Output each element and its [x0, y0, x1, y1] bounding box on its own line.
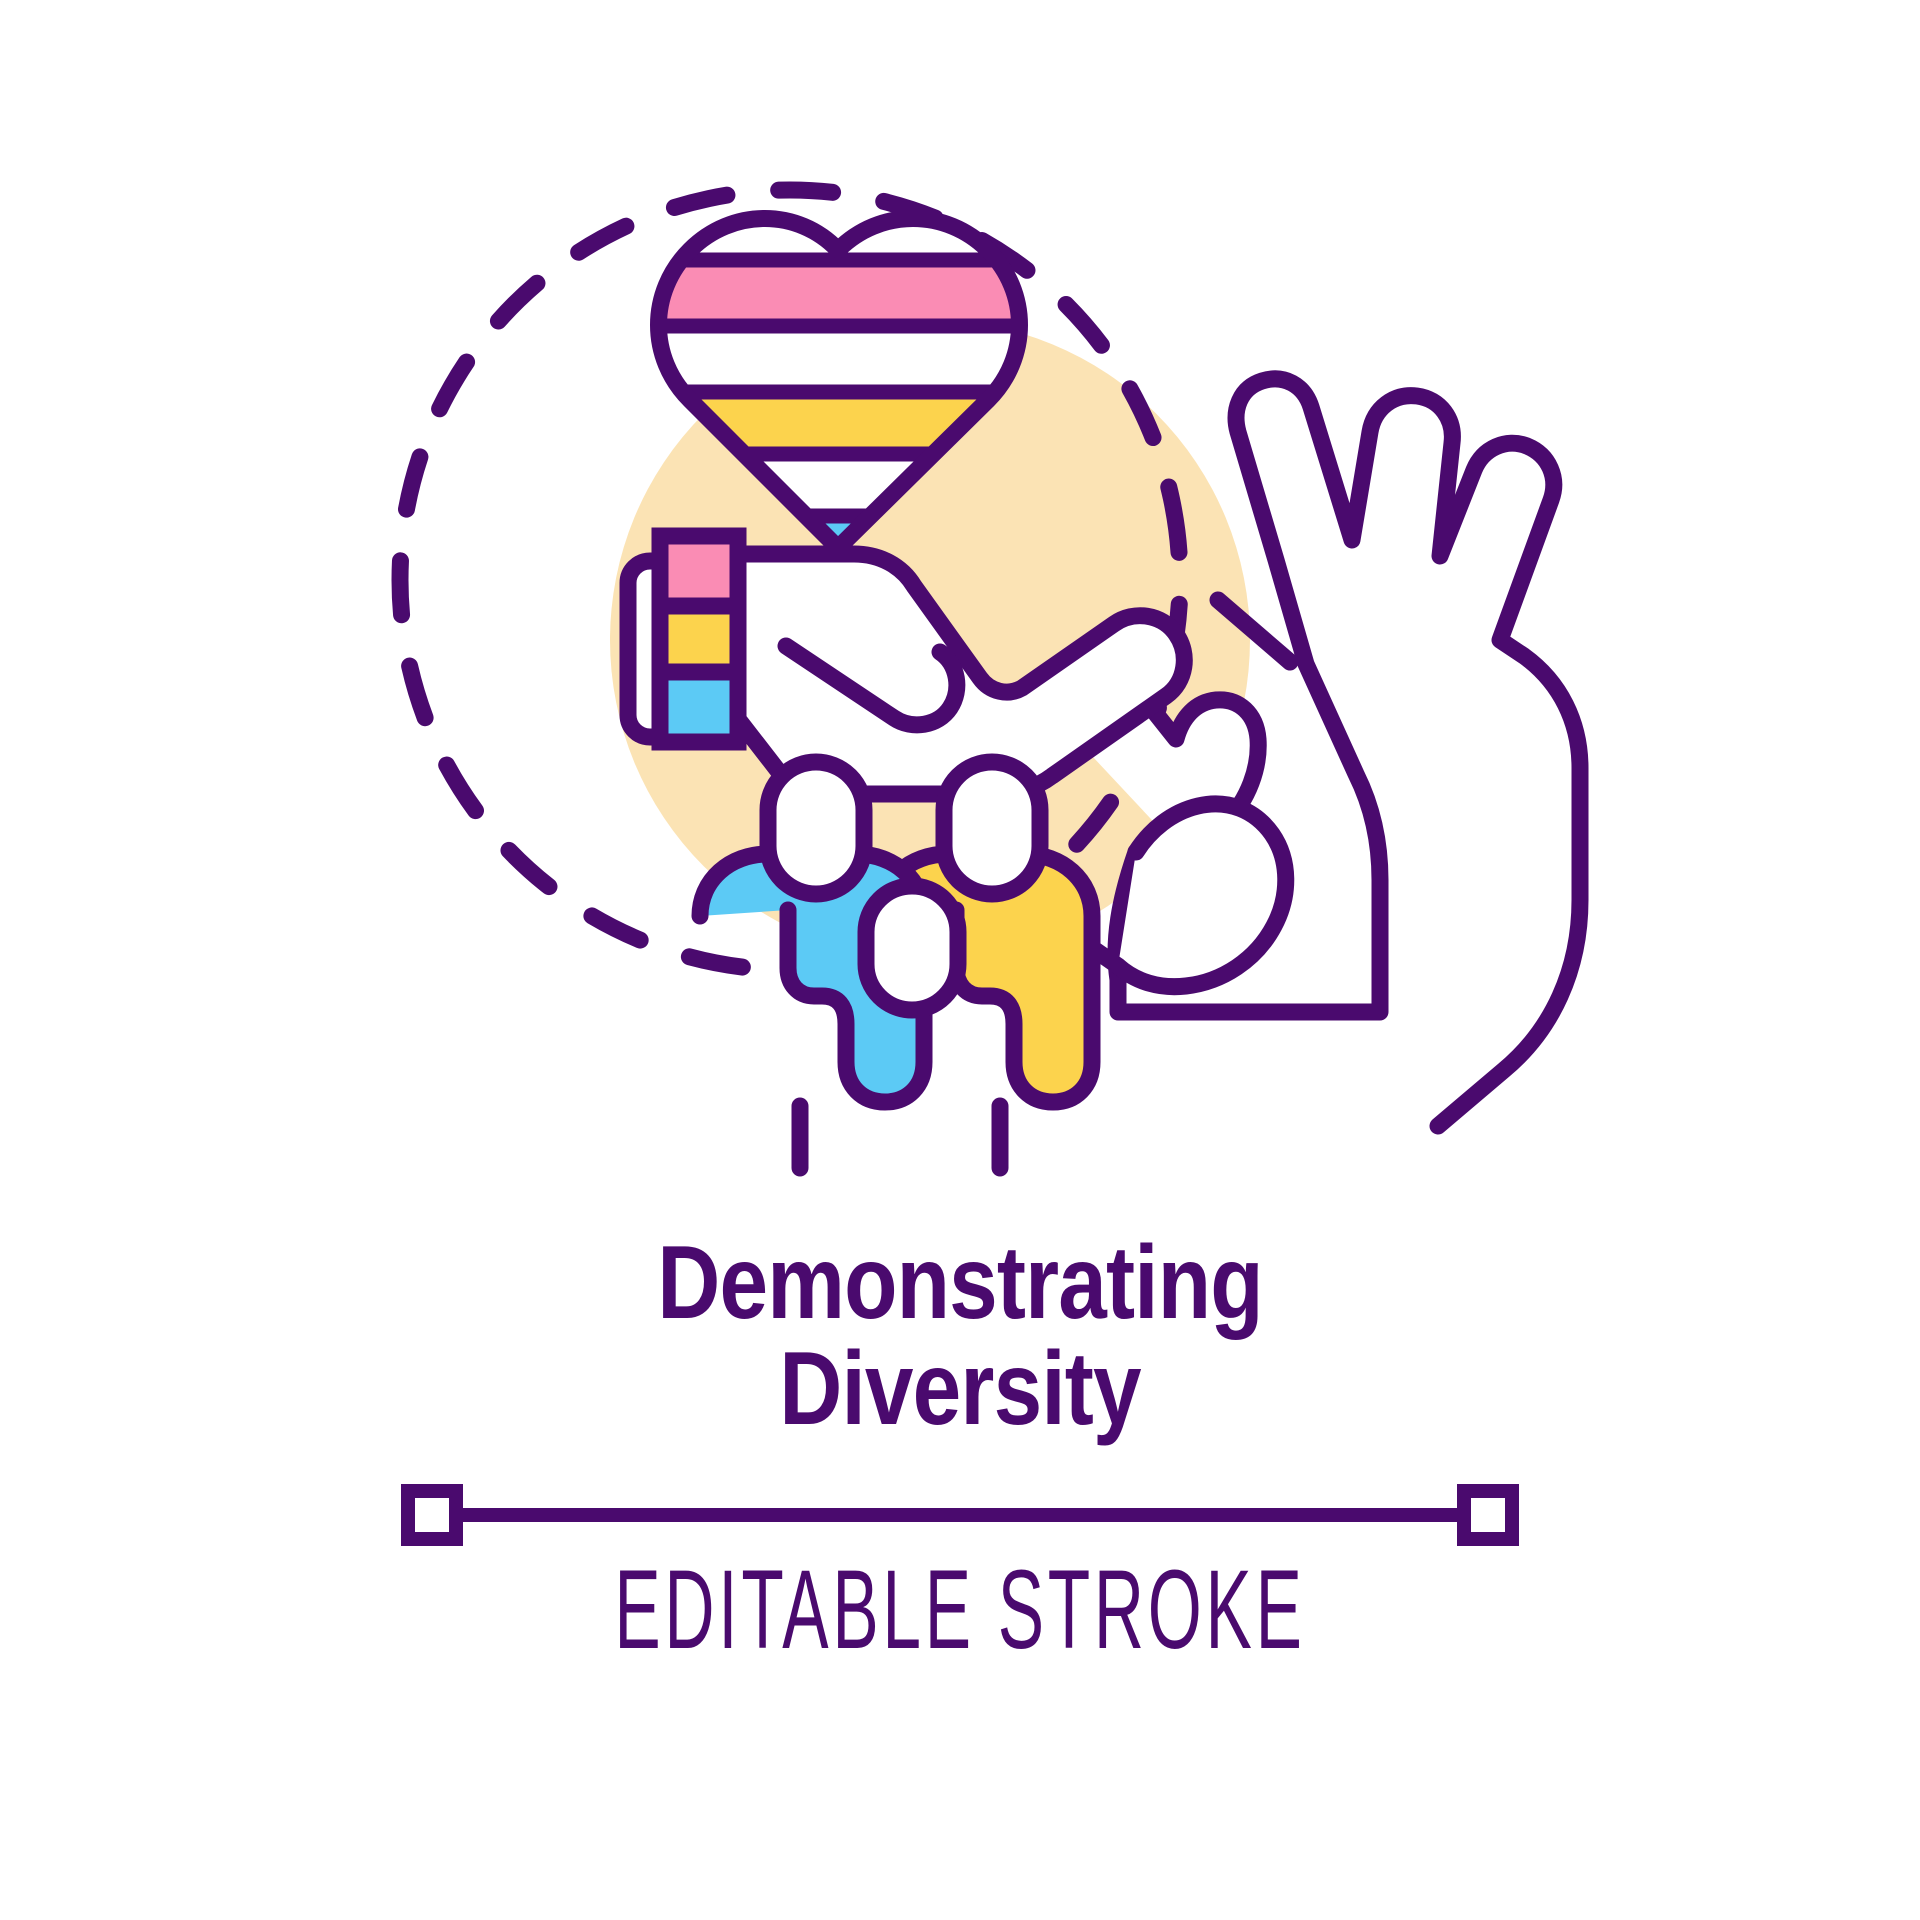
person-left-head [768, 762, 864, 894]
concept-icon-artwork [0, 0, 1920, 1280]
page-title: Demonstrating Diversity [154, 1230, 1767, 1442]
wristband-segment-blue [660, 672, 738, 742]
stroke-width-divider [0, 1480, 1920, 1550]
divider-svg [400, 1480, 1520, 1550]
illustration-canvas: Demonstrating Diversity EDITABLE STROKE [0, 0, 1920, 1920]
person-center-child-head [866, 886, 958, 1010]
wristband-segment-yellow [660, 606, 738, 672]
wristband-segment-pink [660, 536, 738, 606]
divider-handle-left [408, 1491, 456, 1539]
person-right-head [944, 762, 1040, 894]
editable-stroke-label: EDITABLE STROKE [365, 1545, 1555, 1674]
pride-wristband [660, 536, 738, 742]
caption-block: Demonstrating Diversity [0, 1230, 1920, 1442]
divider-handle-right [1464, 1491, 1512, 1539]
